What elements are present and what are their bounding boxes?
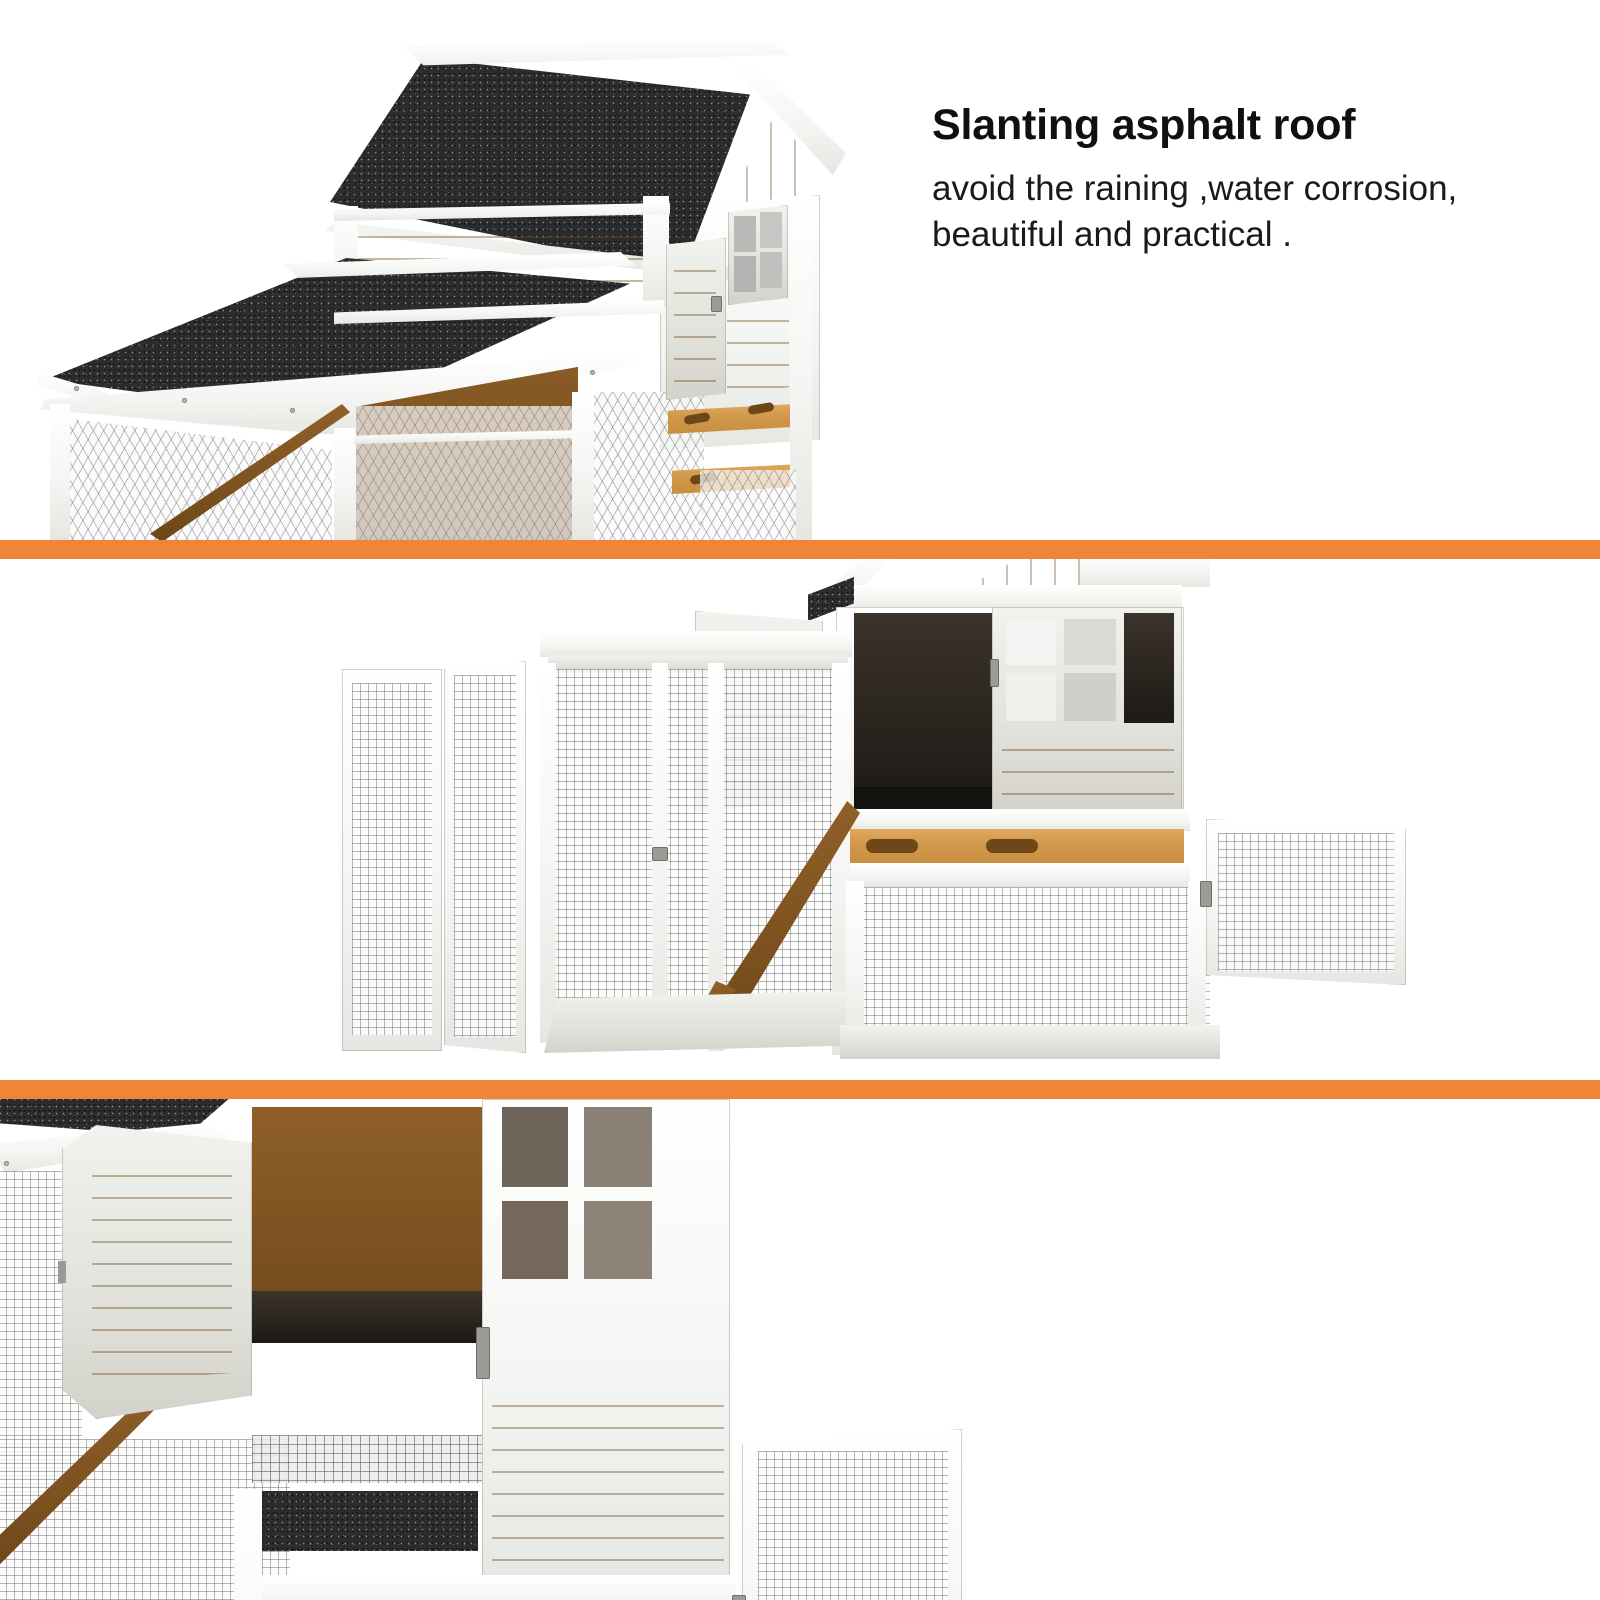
interior-shadow [854, 787, 992, 811]
upper-floor-mesh [252, 1435, 482, 1483]
screw-head [4, 1161, 9, 1166]
door-latch-icon[interactable] [476, 1327, 490, 1379]
panel-1-headline: Slanting asphalt roof [932, 98, 1552, 152]
drawer-handle[interactable] [866, 839, 918, 853]
run-center-right-post [572, 392, 594, 540]
right-side-mesh [700, 470, 796, 540]
run-door-mesh [1218, 833, 1394, 971]
drawer-handle[interactable] [986, 839, 1038, 853]
run-door-mesh [758, 1451, 948, 1600]
front-wood-board [727, 300, 789, 392]
run-post [234, 1489, 262, 1600]
window-pane [1064, 619, 1116, 665]
coop-image-3 [0, 1099, 950, 1600]
lower-run-floor [840, 1025, 1220, 1059]
run-door-mesh [454, 675, 516, 1037]
lower-run-mesh [850, 887, 1210, 1037]
upper-deck-apron [830, 863, 1190, 887]
run-door-latch-icon[interactable] [732, 1595, 746, 1600]
door-hinge-icon [58, 1261, 66, 1283]
run-post [540, 663, 556, 1043]
run-door-mesh [352, 683, 432, 1035]
window-pane [584, 1201, 652, 1279]
inner-tray-edge [258, 1491, 478, 1551]
window-pane [760, 252, 782, 288]
house-interior-dark [854, 613, 992, 807]
window-pane [734, 256, 756, 292]
window-pane [760, 212, 782, 248]
run-door-latch-icon[interactable] [1200, 881, 1212, 907]
door-latch-icon[interactable] [990, 659, 999, 687]
front-wood-board [492, 1385, 724, 1575]
nest-door-wood-inset [674, 250, 716, 386]
screw-head [182, 398, 187, 403]
upper-deck-beam [830, 809, 1190, 831]
deck-beam [236, 1575, 736, 1600]
interior-shadow [252, 1291, 482, 1343]
infographic-page: Slanting asphalt roof avoid the raining … [0, 0, 1600, 1600]
window-pane [584, 1107, 652, 1187]
feature-panel-1: Slanting asphalt roof avoid the raining … [0, 0, 1600, 540]
run-roof-board [540, 631, 852, 657]
run-floor [544, 991, 854, 1053]
window-pane [1064, 673, 1116, 721]
coop-image-1 [0, 0, 900, 540]
nest-door-wood-inset [92, 1155, 232, 1387]
feature-panel-2: Upper and lower space live more comforta… [0, 559, 1600, 1080]
run-mid-post [334, 428, 356, 540]
right-interior-dark [1124, 613, 1174, 723]
window-pane [1006, 673, 1056, 721]
run-back-mesh-wall [550, 669, 840, 999]
coop-image-2 [540, 559, 1600, 1080]
roof-eave-board-right [1080, 559, 1210, 587]
run-center-mesh [356, 406, 578, 540]
screw-head [290, 408, 295, 413]
door-latch-icon[interactable] [711, 296, 722, 312]
screw-head [74, 386, 79, 391]
panel-1-text-block: Slanting asphalt roof avoid the raining … [932, 98, 1552, 258]
panel-1-body: avoid the raining ,water corrosion, beau… [932, 166, 1552, 258]
front-wood-board [1002, 729, 1174, 809]
run-left-corner-post [50, 404, 70, 540]
divider-bottom [0, 1080, 1600, 1099]
feature-panel-3: Double-deck pullzinc drawer blowout prev… [0, 1099, 1600, 1600]
divider-top [0, 540, 1600, 559]
screw-head [590, 370, 595, 375]
window-pane [734, 216, 756, 252]
run-door-latch-icon[interactable] [652, 847, 668, 861]
window-pane [502, 1107, 568, 1187]
window-pane [1006, 619, 1056, 665]
window-pane [502, 1201, 568, 1279]
